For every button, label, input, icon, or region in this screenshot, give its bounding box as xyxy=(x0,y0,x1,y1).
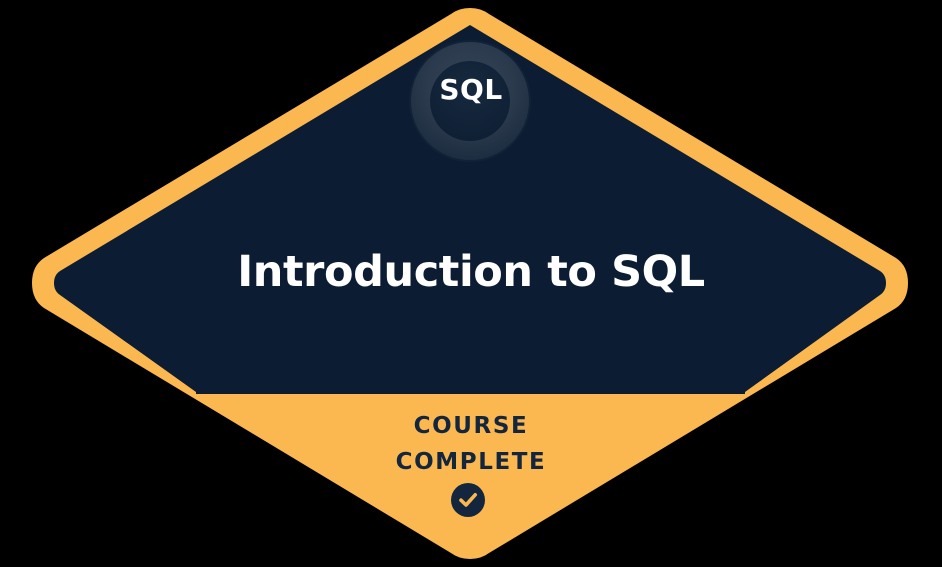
completion-status-line-1: COURSE xyxy=(0,408,942,444)
course-completion-badge[interactable]: SQL Introduction to SQL COURSE COMPLETE xyxy=(0,0,942,567)
check-circle-icon xyxy=(451,483,485,517)
sql-emblem-label: SQL xyxy=(0,76,942,104)
completion-status: COURSE COMPLETE xyxy=(0,408,942,480)
completion-status-line-2: COMPLETE xyxy=(0,444,942,480)
course-title: Introduction to SQL xyxy=(0,246,942,298)
